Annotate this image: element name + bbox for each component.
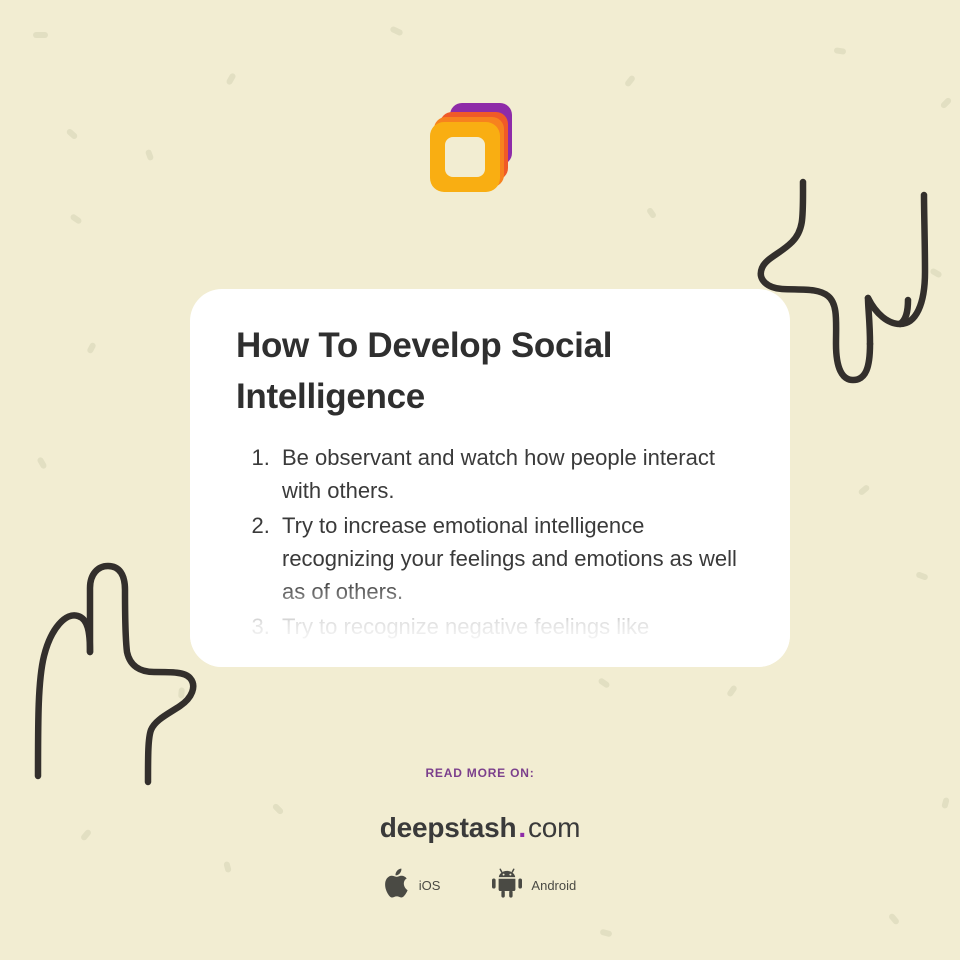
confetti-dash [69, 213, 82, 225]
store-badges: iOS [0, 868, 960, 903]
store-label-android: Android [531, 878, 576, 893]
read-more-label: READ MORE ON: [0, 766, 960, 780]
confetti-dash [624, 74, 636, 87]
confetti-dash [66, 128, 79, 140]
footer: READ MORE ON: deepstash.com iOS [0, 766, 960, 903]
brand-tld: com [528, 812, 580, 843]
confetti-dash [888, 912, 900, 925]
brand-url: deepstash.com [0, 812, 960, 844]
confetti-dash [145, 149, 154, 161]
confetti-dash [646, 207, 657, 219]
confetti-dash [86, 342, 96, 355]
logo-center-cutout [445, 137, 485, 177]
page-title: How To Develop Social Intelligence [236, 321, 744, 423]
store-badge-android[interactable]: Android [492, 868, 576, 903]
list-item: Try to recognize negative feelings like [276, 610, 744, 643]
confetti-dash [726, 684, 738, 697]
confetti-dash [940, 97, 953, 110]
confetti-dash [597, 677, 610, 689]
brand-dot: . [516, 812, 528, 843]
poster: How To Develop Social Intelligence Be ob… [0, 0, 960, 960]
list-item: Be observant and watch how people intera… [276, 441, 744, 507]
confetti-dash [389, 26, 403, 37]
tips-list: Be observant and watch how people intera… [236, 441, 744, 643]
content-card: How To Develop Social Intelligence Be ob… [190, 289, 790, 667]
android-icon [492, 868, 522, 903]
confetti-dash [178, 687, 185, 698]
confetti-dash [929, 267, 942, 278]
apple-icon [384, 868, 410, 903]
confetti-dash [915, 571, 928, 581]
store-badge-ios[interactable]: iOS [384, 868, 441, 903]
brand-name: deepstash [380, 812, 517, 843]
confetti-dash [834, 47, 847, 55]
confetti-dash [33, 32, 48, 38]
confetti-dash [857, 484, 870, 496]
confetti-dash [599, 929, 612, 938]
list-item: Try to increase emotional intelligence r… [276, 509, 744, 608]
confetti-dash [225, 72, 236, 85]
deepstash-logo [428, 103, 520, 195]
store-label-ios: iOS [419, 878, 441, 893]
confetti-dash [36, 456, 47, 469]
pointing-up-hand-icon [22, 560, 212, 795]
